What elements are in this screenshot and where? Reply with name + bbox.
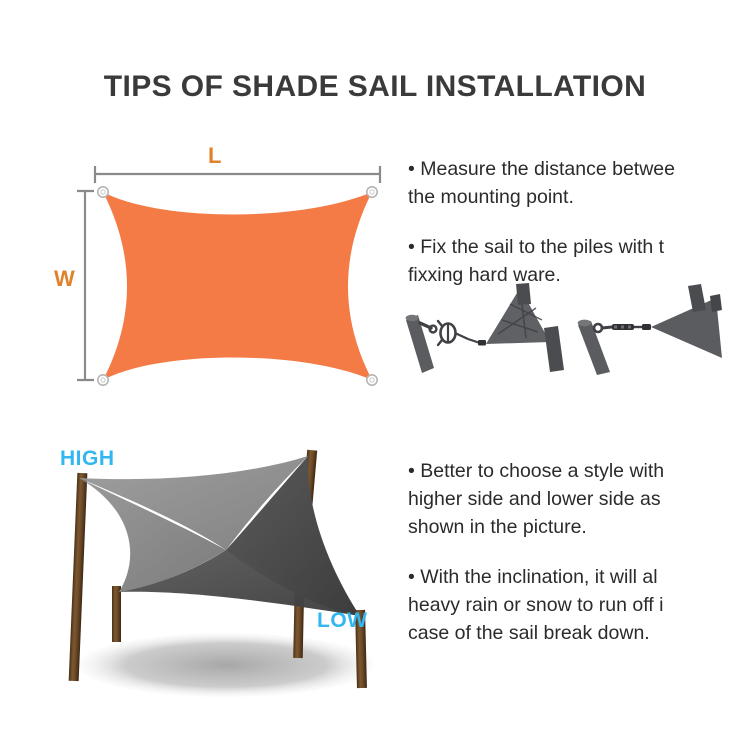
tip-style-line-3: shown in the picture. — [408, 513, 664, 541]
tip-inclination-line-3: case of the sail break down. — [408, 619, 664, 647]
wooden-post-icon — [112, 586, 121, 642]
tip-measure-line-1: • Measure the distance betwee — [408, 155, 675, 183]
grommet-ring — [367, 375, 377, 385]
width-dimension-label: W — [54, 268, 75, 290]
turnbuckle-icon — [612, 324, 651, 330]
tip-inclination-line-2: heavy rain or snow to run off i — [408, 591, 664, 619]
scene-svg — [30, 440, 410, 705]
length-dimension-line — [95, 166, 380, 183]
tip-inclination-line-1: • With the inclination, it will al — [408, 563, 664, 591]
pole-turnbuckle-triangular-sail-corner — [406, 283, 564, 373]
pole-cable-sail-corner — [578, 284, 722, 375]
length-dimension-label: L — [208, 145, 221, 167]
tip-style-line-2: higher side and lower side as — [408, 485, 664, 513]
grommet-ring — [367, 187, 377, 197]
tip-fix-sail-line-1: • Fix the sail to the piles with t — [408, 233, 675, 261]
wooden-post-icon — [69, 473, 88, 681]
hardware-fittings-diagram — [398, 280, 750, 375]
turnbuckle-icon — [438, 321, 468, 345]
sail-corner-icon — [651, 284, 722, 358]
carabiner-icon — [594, 324, 612, 332]
cable-clamp-icon — [478, 340, 486, 346]
width-dimension-line — [77, 191, 94, 380]
ground-shadow-icon — [78, 633, 374, 697]
hardware-svg — [398, 280, 750, 375]
high-label: HIGH — [60, 448, 115, 469]
rect-sail-svg — [40, 140, 400, 400]
high-low-scene-diagram: HIGH LOW — [30, 440, 410, 705]
infographic-page: TIPS OF SHADE SAIL INSTALLATION L W — [0, 0, 750, 750]
shade-sail-shape — [103, 192, 372, 380]
tip-measure-line-2: the mounting point. — [408, 183, 675, 211]
sail-corner-icon — [486, 283, 564, 372]
tip-style-line-1: • Better to choose a style with — [408, 457, 664, 485]
tips-bottom-text: • Better to choose a style with higher s… — [408, 457, 664, 647]
low-label: LOW — [317, 610, 367, 631]
text-gap — [408, 211, 675, 233]
rect-sail-diagram: L W — [40, 140, 400, 400]
page-title: TIPS OF SHADE SAIL INSTALLATION — [0, 70, 750, 104]
tips-top-text: • Measure the distance betwee the mounti… — [408, 155, 675, 289]
grommet-ring — [98, 375, 108, 385]
text-gap — [408, 541, 664, 563]
grommet-ring — [98, 187, 108, 197]
